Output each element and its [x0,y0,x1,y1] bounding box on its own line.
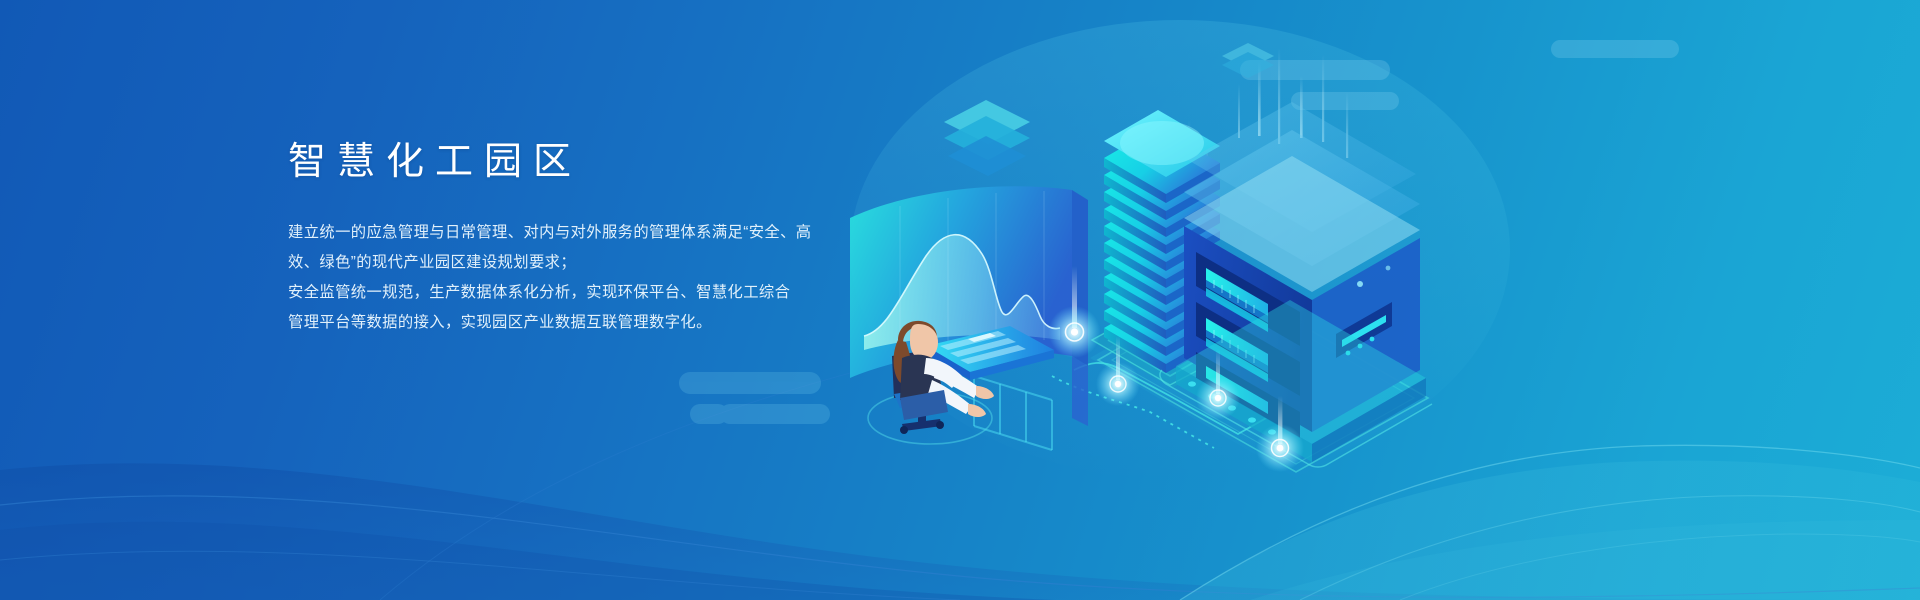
wave-light-fill-lower [1250,520,1920,600]
cloud-swoosh-6 [690,404,728,424]
description-line-1: 建立统一的应急管理与日常管理、对内与对外服务的管理体系满足“安全、高 [288,218,908,248]
person-hand-lower [968,404,986,417]
cloud-swoosh-5 [720,404,830,424]
wave-light-line-2 [1300,496,1920,600]
cloud-swoosh-3 [1551,40,1679,58]
description-line-2: 效、绿色”的现代产业园区建设规划要求； [288,248,908,278]
cloud-swoosh-group-left [679,372,830,424]
hero-text-block: 智慧化工园区 建立统一的应急管理与日常管理、对内与对外服务的管理体系满足“安全、… [288,142,908,338]
wave-light-line-3 [1400,534,1920,600]
isometric-illustration [840,40,1440,460]
wave-line-2 [0,551,960,600]
floating-layers-icon-small [1222,43,1274,78]
hero-description: 建立统一的应急管理与日常管理、对内与对外服务的管理体系满足“安全、高 效、绿色”… [288,184,908,338]
illustration-svg [840,40,1440,460]
chair-wheel [936,421,944,429]
wave-light-right [1180,461,1920,600]
light-ray [1238,84,1240,138]
wave-line-1 [0,496,1920,597]
wave-dark-secondary [0,522,1920,600]
floating-layers-icon [944,100,1030,176]
hero-banner: 智慧化工园区 建立统一的应急管理与日常管理、对内与对外服务的管理体系满足“安全、… [0,0,1920,600]
description-line-3: 安全监管统一规范，生产数据体系化分析，实现环保平台、智慧化工综合 [288,278,908,308]
screen-support-bars [974,376,1052,450]
cloud-swoosh-4 [679,372,821,394]
chair-wheel [900,426,908,434]
page-title: 智慧化工园区 [288,142,908,184]
wave-line-3 [380,360,900,600]
screen-stand [1072,356,1088,426]
description-line-4: 管理平台等数据的接入，实现园区产业数据互联管理数字化。 [288,308,908,338]
wave-dark-lower-left [0,463,1920,600]
person-hand [976,386,994,399]
